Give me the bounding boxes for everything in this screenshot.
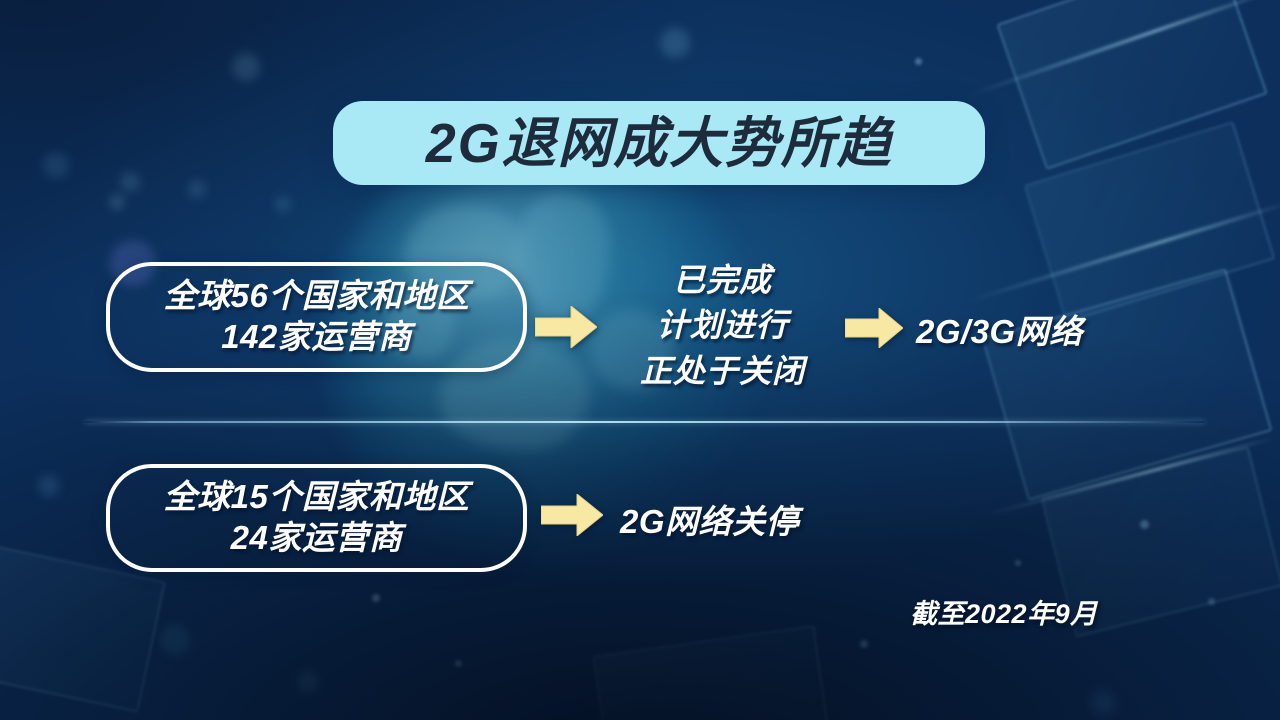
- title-banner: 2G退网成大势所趋: [333, 101, 985, 185]
- stat-line-operators: 142家运营商: [221, 318, 412, 357]
- infographic-poster: 2G退网成大势所趋 全球56个国家和地区 142家运营商 已完成 计划进行 正处…: [0, 0, 1280, 720]
- footnote-date: 截至2022年9月: [910, 592, 1098, 631]
- outcome-label-2g-shutdown: 2G网络关停: [620, 495, 799, 543]
- stat-line-countries: 全球15个国家和地区: [164, 478, 470, 517]
- stat-box-operators-shutting-down: 全球56个国家和地区 142家运营商: [106, 262, 527, 372]
- stat-box-operators-shut-down: 全球15个国家和地区 24家运营商: [106, 464, 527, 572]
- page-title: 2G退网成大势所趋: [426, 116, 893, 171]
- stat-line-operators: 24家运营商: [231, 519, 403, 558]
- arrow-right-icon: [541, 494, 603, 536]
- stat-line-countries: 全球56个国家和地区: [164, 277, 470, 316]
- arrow-right-icon: [845, 308, 903, 348]
- status-line: 已完成: [673, 258, 772, 303]
- outcome-label-2g3g-network: 2G/3G网络: [916, 305, 1083, 353]
- status-line: 计划进行: [656, 303, 788, 348]
- status-line: 正处于关闭: [640, 349, 805, 394]
- arrow-right-icon: [535, 306, 597, 348]
- status-list: 已完成 计划进行 正处于关闭: [600, 258, 845, 394]
- section-divider: [85, 421, 1205, 423]
